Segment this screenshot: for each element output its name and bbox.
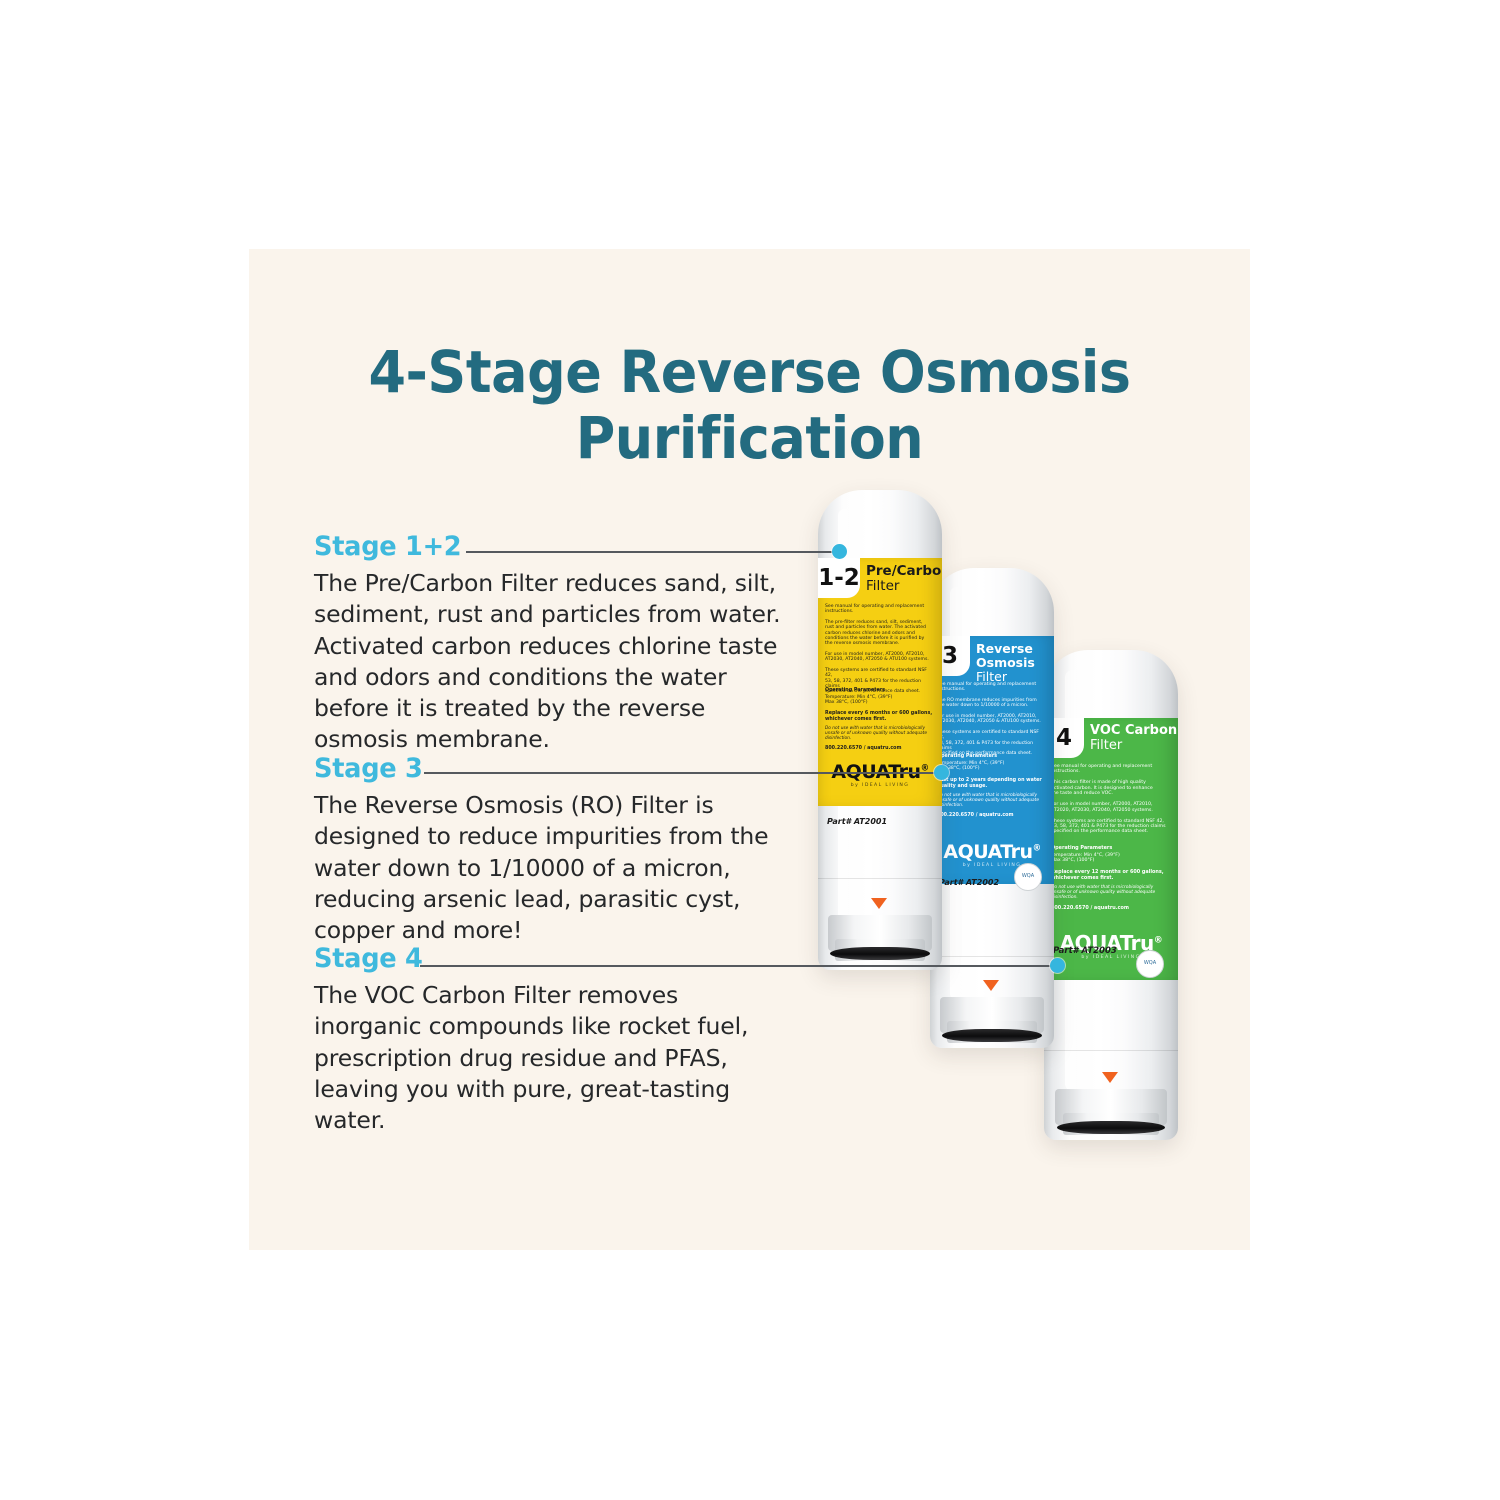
brand-logo-aquatru: AQUATru® by IDEAL LIVING <box>818 761 942 788</box>
filter-contact: 800.220.6570 / aquatru.com <box>818 746 942 752</box>
alignment-arrow-icon <box>1102 1072 1118 1083</box>
filter-badge-number: 1-2 <box>818 558 860 598</box>
alignment-arrow-icon <box>983 980 999 991</box>
filter-warning: Do not use with water that is microbiolo… <box>1044 885 1178 900</box>
filter-replace-info: Replace every 12 months or 600 gallons, … <box>1044 870 1178 881</box>
connector-dot-stage-3 <box>934 765 949 780</box>
stage-description: The Pre/Carbon Filter reduces sand, silt… <box>314 568 784 756</box>
filter-fine-print: See manual for operating and replacement… <box>930 682 1054 757</box>
filter-title-sub: Filter <box>1090 739 1177 754</box>
filter-title: Pre/Carbon Filter <box>866 564 942 594</box>
filter-title: Reverse Osmosis Filter <box>976 642 1054 684</box>
brand-logo-aquatru: AQUATru® by IDEAL LIVING <box>930 841 1054 868</box>
brand-name: AQUATru <box>943 841 1032 863</box>
stage-heading: Stage 3 <box>314 753 423 784</box>
filter-label-reverse-osmosis: 3 Reverse Osmosis Filter See manual for … <box>930 636 1054 884</box>
stage-block-4: Stage 4 The VOC Carbon Filter removes in… <box>314 943 784 1136</box>
filter-replace-info: Replace every 6 months or 600 gallons, w… <box>818 711 942 722</box>
filter-fine-print: See manual for operating and replacement… <box>1044 764 1178 835</box>
filter-title-sub: Filter <box>866 579 942 594</box>
filter-fine-print: See manual for operating and replacement… <box>818 604 942 695</box>
filter-contact: 800.220.6570 / aquatru.com <box>930 813 1054 819</box>
filter-replace-info: Last up to 2 years depending on water qu… <box>930 778 1054 789</box>
filter-contact: 800.220.6570 / aquatru.com <box>1044 906 1178 912</box>
connector-line-stage-4 <box>420 965 1057 967</box>
water-quality-seal-icon: WQA <box>1014 863 1042 891</box>
stage-heading: Stage 4 <box>314 943 423 974</box>
filter-title-main: Reverse Osmosis <box>976 641 1035 670</box>
filter-label-voc-carbon: 4 VOC Carbon Filter See manual for opera… <box>1044 718 1178 980</box>
connector-line-stage-1-2 <box>466 551 838 553</box>
filter-params-heading: Operating Parameters <box>818 688 942 694</box>
filter-cartridge-voc-carbon: 4 VOC Carbon Filter See manual for opera… <box>1044 650 1178 1140</box>
connector-dot-stage-4 <box>1050 958 1065 973</box>
filter-cartridge-pre-carbon: 1-2 Pre/Carbon Filter See manual for ope… <box>818 490 942 970</box>
registered-mark-icon: ® <box>1033 844 1041 854</box>
filter-params-heading: Operating Parameters <box>930 754 1054 760</box>
filter-warning: Do not use with water that is microbiolo… <box>818 726 942 741</box>
filter-cartridge-reverse-osmosis: 3 Reverse Osmosis Filter See manual for … <box>930 568 1054 1048</box>
filter-params: Temperature: Min 4°C, (39°F) Max 38°C, (… <box>818 695 942 706</box>
stage-heading: Stage 1+2 <box>314 531 461 562</box>
stage-description: The Reverse Osmosis (RO) Filter is desig… <box>314 790 784 946</box>
filter-params-heading: Operating Parameters <box>1044 846 1178 852</box>
filter-params: Temperature: Min 4°C, (39°F) Max 38°C, (… <box>1044 853 1178 864</box>
alignment-arrow-icon <box>871 898 887 909</box>
filter-title-main: VOC Carbon <box>1090 723 1177 738</box>
filter-label-pre-carbon: 1-2 Pre/Carbon Filter See manual for ope… <box>818 558 942 806</box>
stage-description: The VOC Carbon Filter removes inorganic … <box>314 980 784 1136</box>
filter-part-number: Part# AT2002 <box>939 878 999 887</box>
filter-title: VOC Carbon Filter <box>1090 724 1177 753</box>
filter-part-number: Part# AT2001 <box>827 817 887 826</box>
connector-dot-stage-1-2 <box>832 544 847 559</box>
connector-line-stage-3 <box>424 772 942 774</box>
filter-warning: Do not use with water that is microbiolo… <box>930 793 1054 808</box>
stage-block-3: Stage 3 The Reverse Osmosis (RO) Filter … <box>314 753 784 946</box>
brand-tagline: by IDEAL LIVING <box>818 783 942 788</box>
page-title: 4-Stage Reverse Osmosis Purification <box>284 340 1215 471</box>
infographic-canvas: 4-Stage Reverse Osmosis Purification 1-2… <box>0 0 1500 1500</box>
stage-block-1-2: Stage 1+2 The Pre/Carbon Filter reduces … <box>314 531 784 756</box>
registered-mark-icon: ® <box>1154 935 1163 945</box>
water-quality-seal-icon: WQA <box>1136 950 1164 978</box>
filter-title-main: Pre/Carbon <box>866 563 942 579</box>
filter-part-number: Part# AT2003 <box>1053 946 1117 956</box>
